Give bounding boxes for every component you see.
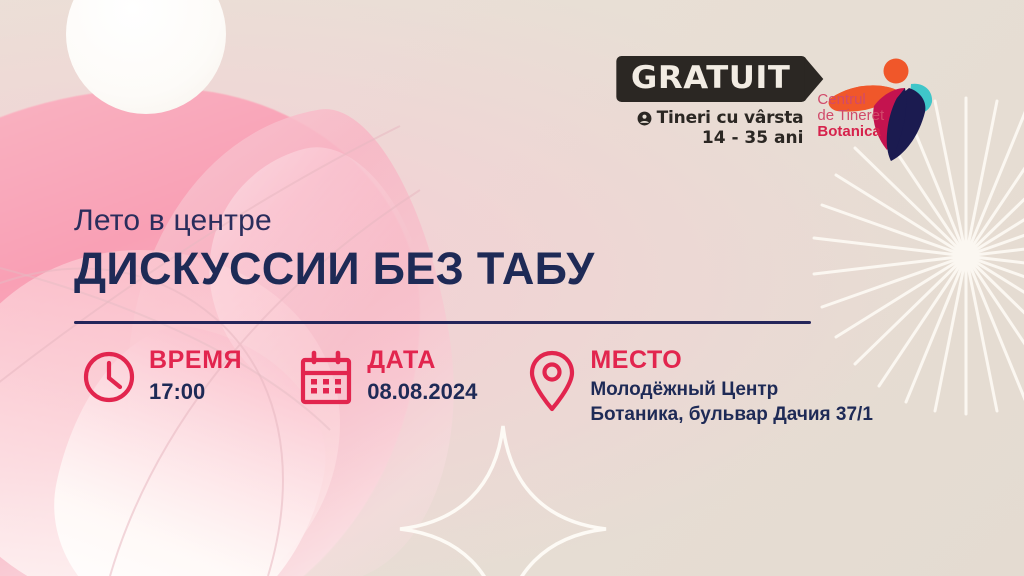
age-line-2: 14 - 35 ani <box>702 129 804 148</box>
calendar-icon <box>298 350 354 411</box>
detail-time: ВРЕМЯ 17:00 <box>82 348 242 409</box>
kicker-text: Лето в центре <box>74 206 594 236</box>
age-line-1-row: Tineri cu vârsta <box>637 109 804 128</box>
detail-date: ДАТА 08.08.2024 <box>298 348 477 411</box>
free-badge-group: GRATUIT Tineri cu vârsta 14 - 35 ani <box>620 54 803 148</box>
headline-block: Лето в центре ДИСКУССИИ БЕЗ ТАБУ <box>74 206 594 293</box>
detail-location-line-1: Молодёжный Центр <box>590 378 873 402</box>
detail-time-label: ВРЕМЯ <box>149 346 242 374</box>
detail-location: МЕСТО Молодёжный Центр Ботаника, бульвар… <box>527 348 873 426</box>
age-line-1: Tineri cu vârsta <box>657 109 804 128</box>
detail-location-text: МЕСТО Молодёжный Центр Ботаника, бульвар… <box>590 348 873 426</box>
gratuit-badge: GRATUIT <box>616 56 807 102</box>
logo-line-3: Botanica <box>817 124 884 140</box>
clock-icon <box>82 350 136 409</box>
detail-date-label: ДАТА <box>367 346 436 374</box>
detail-time-value: 17:00 <box>149 379 242 405</box>
logo-wordmark: Centrul de Tineret Botanica <box>817 92 884 140</box>
person-icon <box>637 111 652 126</box>
detail-location-line-2: Ботаника, бульвар Дачия 37/1 <box>590 403 873 427</box>
badge-cluster: GRATUIT Tineri cu vârsta 14 - 35 ani <box>620 54 935 162</box>
location-pin-icon <box>527 350 577 417</box>
detail-location-label: МЕСТО <box>590 346 682 374</box>
event-poster: GRATUIT Tineri cu vârsta 14 - 35 ani <box>0 0 1024 576</box>
event-details-row: ВРЕМЯ 17:00 <box>82 348 873 426</box>
logo-line-2: de Tineret <box>817 108 884 124</box>
detail-date-value: 08.08.2024 <box>367 379 477 405</box>
four-point-star-icon <box>398 424 608 576</box>
centrul-de-tineret-logo: Centrul de Tineret Botanica <box>817 54 935 162</box>
detail-date-text: ДАТА 08.08.2024 <box>367 348 477 405</box>
divider-rule <box>74 321 811 324</box>
logo-line-1: Centrul <box>817 92 884 108</box>
page-title: ДИСКУССИИ БЕЗ ТАБУ <box>74 245 594 293</box>
detail-time-text: ВРЕМЯ 17:00 <box>149 348 242 405</box>
